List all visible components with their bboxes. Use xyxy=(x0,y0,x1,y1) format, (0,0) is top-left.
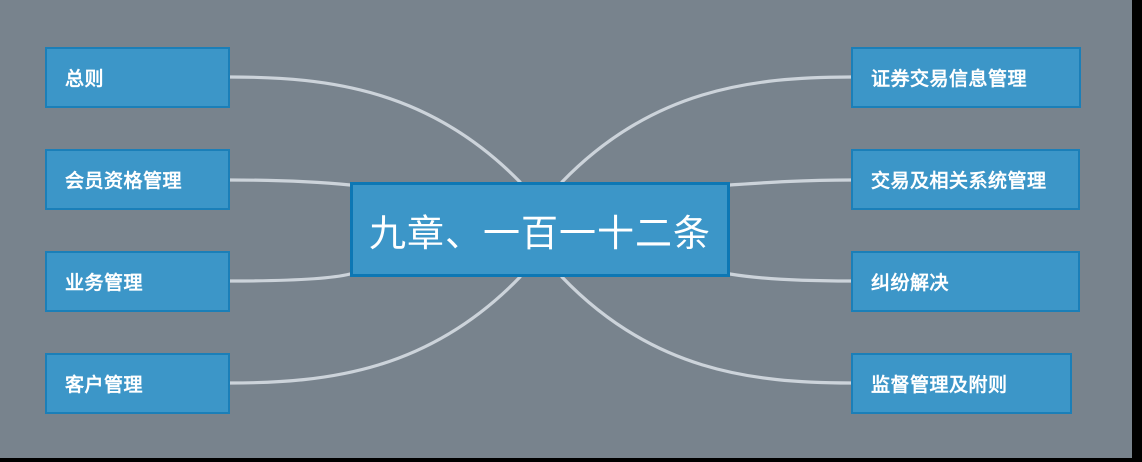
node-left-4[interactable]: 客户管理 xyxy=(45,353,230,414)
connector-right-2 xyxy=(730,180,851,185)
connector-left-3 xyxy=(230,274,350,281)
node-right-2-label: 交易及相关系统管理 xyxy=(871,166,1047,193)
connector-left-4 xyxy=(230,277,520,383)
node-right-3-label: 纠纷解决 xyxy=(871,268,949,295)
center-node[interactable]: 九章、一百一十二条 xyxy=(350,182,730,277)
connector-left-2 xyxy=(230,180,350,185)
center-node-label: 九章、一百一十二条 xyxy=(369,203,711,257)
mindmap-stage: 总则 会员资格管理 业务管理 客户管理 证券交易信息管理 交易及相关系统管理 纠… xyxy=(0,0,1132,458)
node-left-2-label: 会员资格管理 xyxy=(65,166,182,193)
node-left-3-label: 业务管理 xyxy=(65,268,143,295)
node-left-4-label: 客户管理 xyxy=(65,370,143,397)
mindmap-canvas: 总则 会员资格管理 业务管理 客户管理 证券交易信息管理 交易及相关系统管理 纠… xyxy=(0,0,1142,462)
node-right-1-label: 证券交易信息管理 xyxy=(871,64,1027,91)
connector-left-1 xyxy=(230,77,520,182)
node-left-1[interactable]: 总则 xyxy=(45,47,230,108)
node-right-4[interactable]: 监督管理及附则 xyxy=(851,353,1072,414)
node-right-3[interactable]: 纠纷解决 xyxy=(851,251,1080,312)
connector-right-1 xyxy=(562,77,851,182)
node-left-2[interactable]: 会员资格管理 xyxy=(45,149,230,210)
connector-right-4 xyxy=(562,277,851,383)
canvas-right-edge xyxy=(1132,0,1142,462)
node-right-2[interactable]: 交易及相关系统管理 xyxy=(851,149,1080,210)
connector-right-3 xyxy=(730,274,851,281)
node-left-1-label: 总则 xyxy=(65,64,104,91)
node-right-4-label: 监督管理及附则 xyxy=(871,370,1008,397)
node-left-3[interactable]: 业务管理 xyxy=(45,251,230,312)
node-right-1[interactable]: 证券交易信息管理 xyxy=(851,47,1081,108)
canvas-bottom-edge xyxy=(0,458,1142,462)
